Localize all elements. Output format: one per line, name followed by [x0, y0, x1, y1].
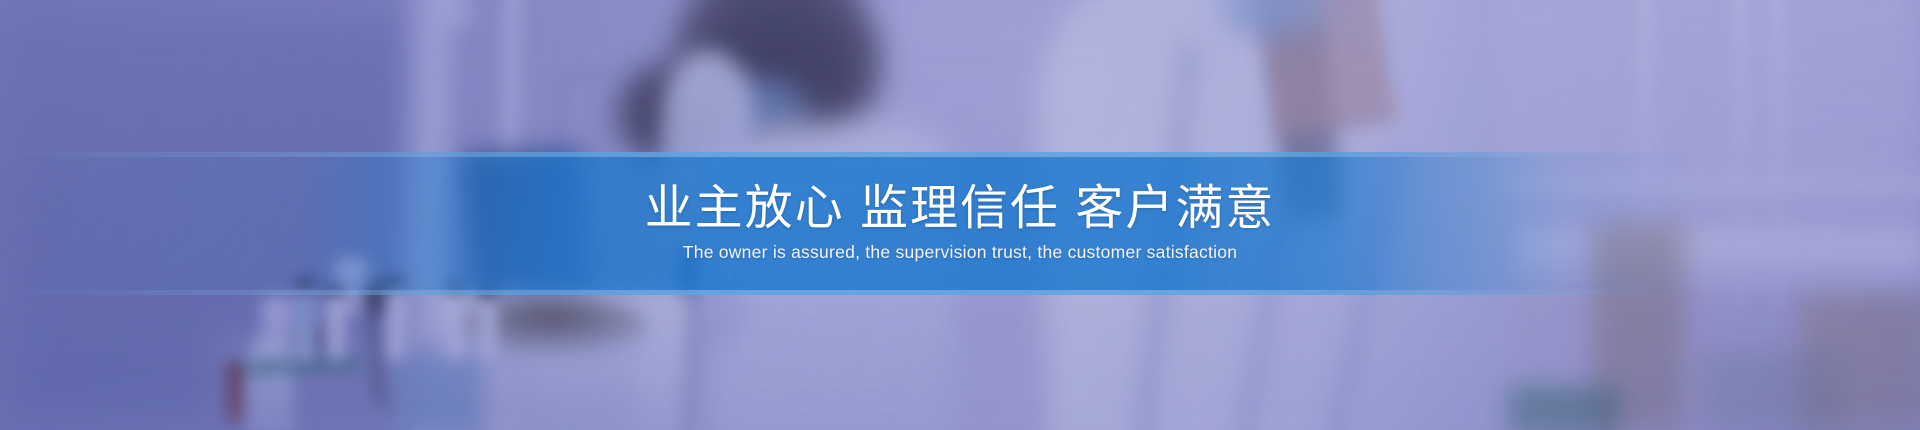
- banner-subheadline: The owner is assured, the supervision tr…: [683, 242, 1237, 263]
- hero-banner: 业主放心 监理信任 客户满意 The owner is assured, the…: [0, 0, 1920, 430]
- headline-text-block: 业主放心 监理信任 客户满意 The owner is assured, the…: [0, 152, 1920, 295]
- banner-headline: 业主放心 监理信任 客户满意: [645, 184, 1276, 234]
